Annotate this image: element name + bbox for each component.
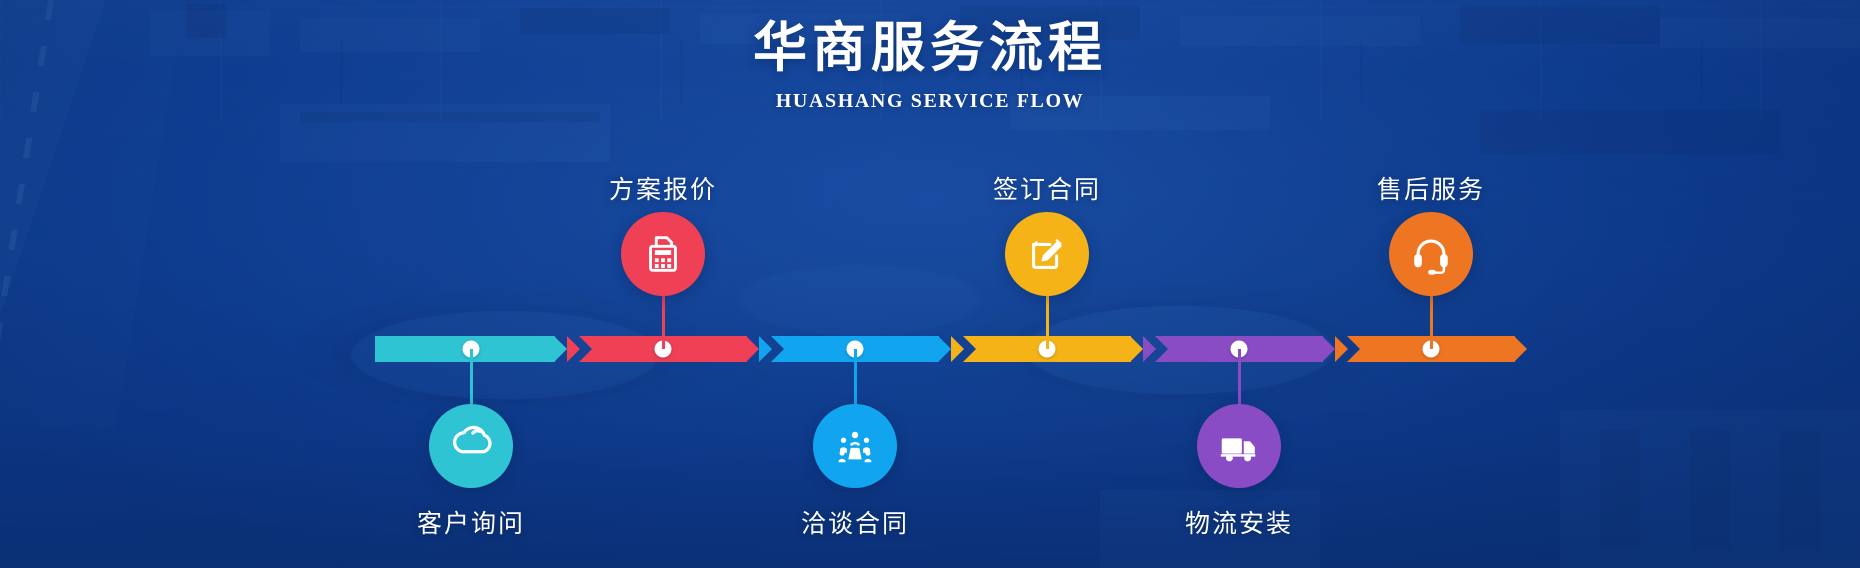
flow-step-label-3: 洽谈合同 [735, 504, 975, 540]
page-subtitle: HUASHANG SERVICE FLOW [0, 90, 1860, 113]
flow-segment-arrow-tip [554, 336, 567, 362]
flow-icon-bubble-5[interactable] [1197, 404, 1281, 488]
sign-contract-icon [1024, 231, 1070, 277]
flow-step-label-1: 客户询问 [351, 504, 591, 540]
flow-segment-arrow-tip [1514, 336, 1527, 362]
flow-icon-bubble-6[interactable] [1389, 212, 1473, 296]
flow-step-label-4: 签订合同 [927, 170, 1167, 206]
flow-connector-1 [470, 349, 473, 404]
cloud-icon [448, 423, 494, 469]
page-title: 华商服务流程 [0, 16, 1860, 80]
flow-icon-bubble-3[interactable] [813, 404, 897, 488]
calculator-icon [640, 231, 686, 277]
headset-icon [1408, 231, 1454, 277]
flow-segment-arrow-tip [1130, 336, 1143, 362]
flow-connector-3 [854, 349, 857, 404]
flow-segment-arrow-tip [1322, 336, 1335, 362]
flow-step-label-2: 方案报价 [543, 170, 783, 206]
flow-step-label-5: 物流安装 [1119, 504, 1359, 540]
flow-connector-5 [1238, 349, 1241, 404]
meeting-icon [832, 423, 878, 469]
truck-icon [1216, 423, 1262, 469]
flow-segment-arrow-tip [746, 336, 759, 362]
flow-icon-bubble-4[interactable] [1005, 212, 1089, 296]
service-flow-banner: 华商服务流程 HUASHANG SERVICE FLOW 客户询问方案报价洽谈合… [0, 0, 1860, 568]
banner-heading: 华商服务流程 HUASHANG SERVICE FLOW [0, 16, 1860, 113]
flow-step-label-6: 售后服务 [1311, 170, 1551, 206]
flow-icon-bubble-2[interactable] [621, 212, 705, 296]
flow-icon-bubble-1[interactable] [429, 404, 513, 488]
flow-segment-arrow-tip [938, 336, 951, 362]
